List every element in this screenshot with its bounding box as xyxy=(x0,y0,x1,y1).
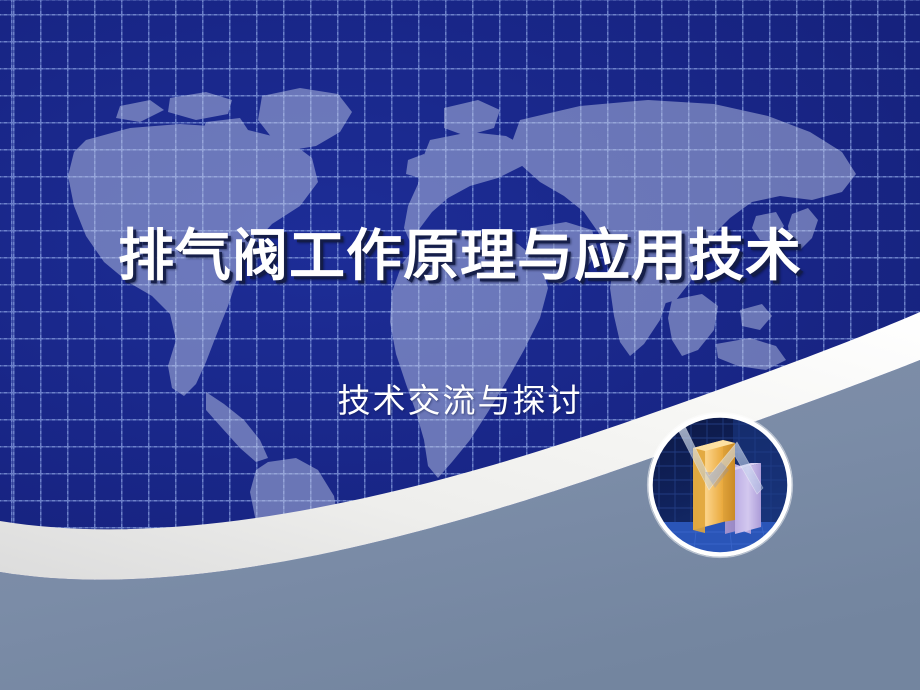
slide-subtitle-text: 技术交流与探讨 xyxy=(338,383,583,419)
slide-title-text: 排气阀工作原理与应用技术 xyxy=(118,228,802,287)
slide-title: 排气阀工作原理与应用技术 xyxy=(0,228,920,287)
bottom-swoosh-decoration xyxy=(0,0,920,690)
presentation-slide: 排气阀工作原理与应用技术 技术交流与探讨 xyxy=(0,0,920,690)
bar-chart-medallion-icon xyxy=(645,410,795,560)
